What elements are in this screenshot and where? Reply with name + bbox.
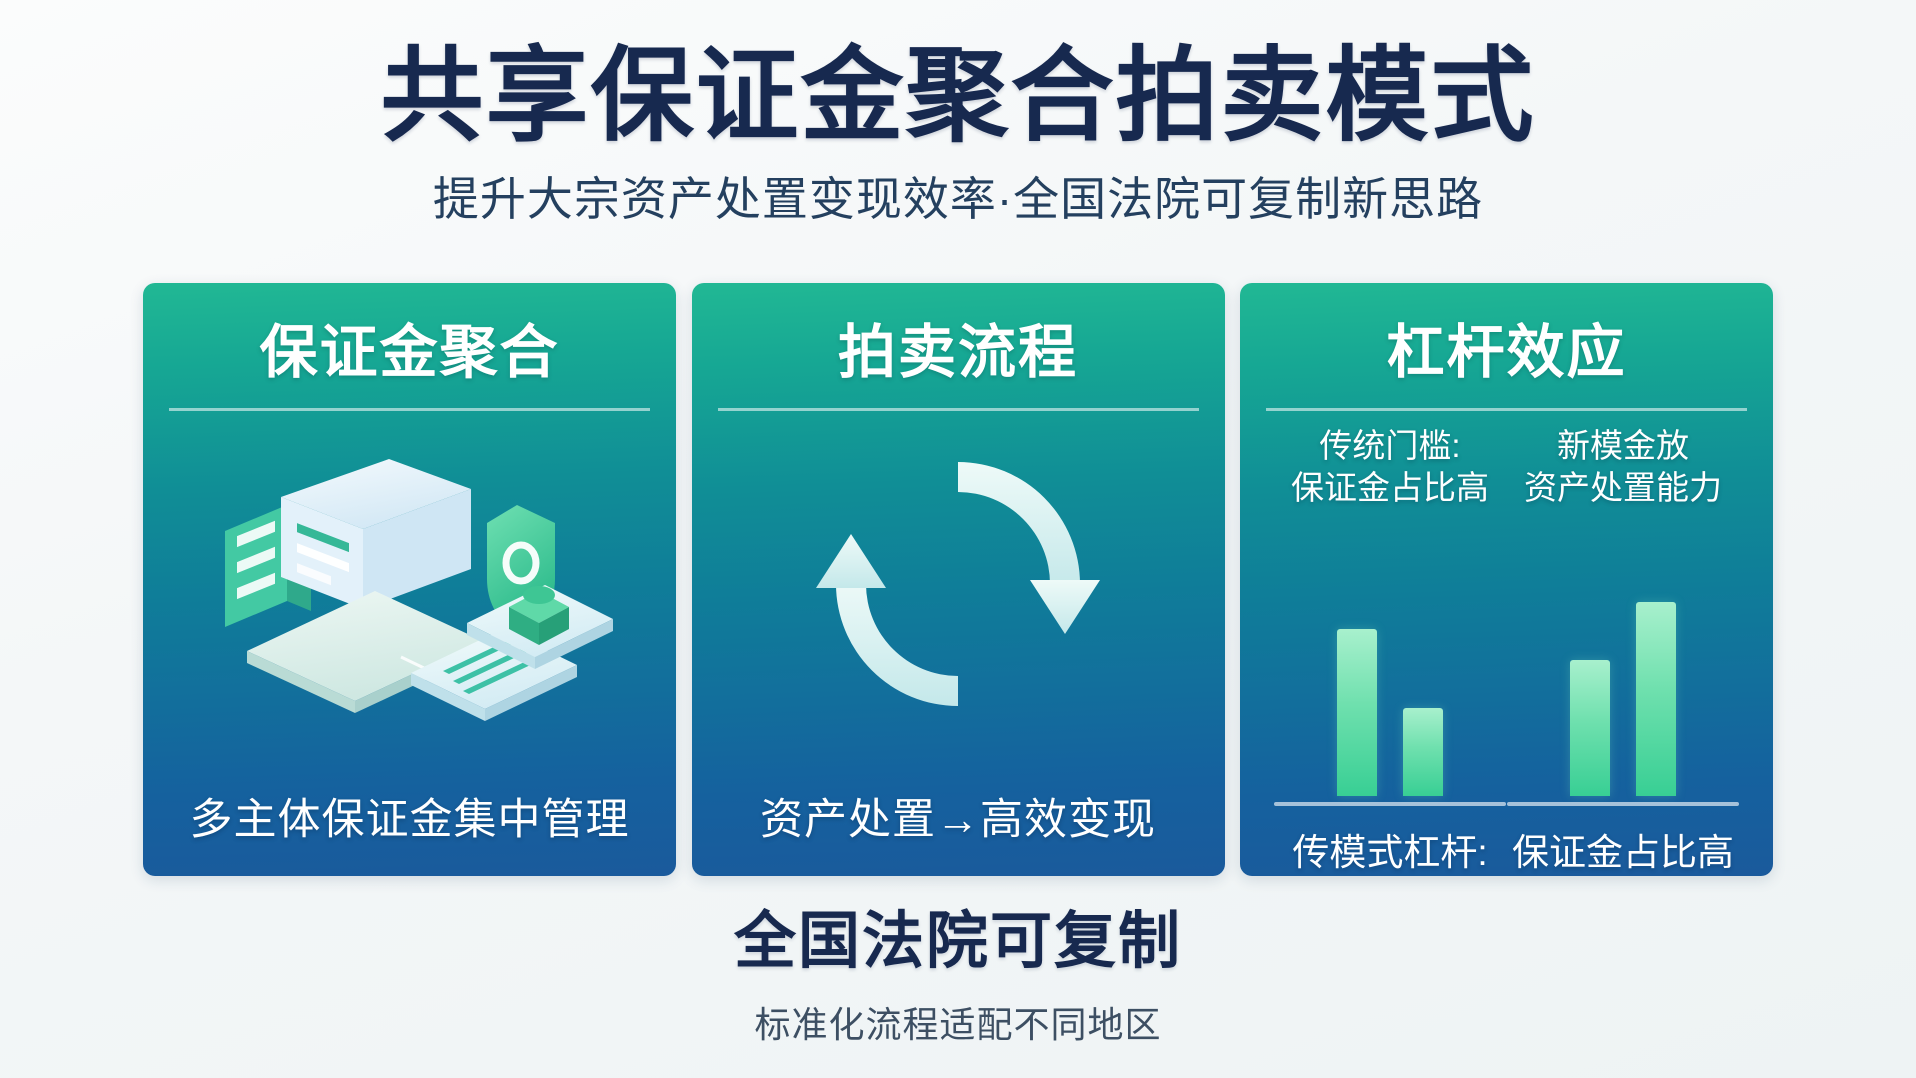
leverage-bar-groups (1270, 509, 1743, 806)
card-3-header: 杠杆效应 (1240, 283, 1773, 411)
page-subtitle: 提升大宗资产处置变现效率·全国法院可复制新思路 (0, 163, 1916, 229)
card-deposit-aggregation[interactable]: 保证金聚合 (143, 283, 676, 876)
card-1-caption: 多主体保证金集中管理 (143, 756, 676, 876)
card-2-caption: 资产处置→高效变现 (692, 756, 1225, 876)
leverage-label-right-line1: 新模金放 (1507, 425, 1739, 467)
leverage-chart: 传统门槛: 保证金占比高 新模金放 资产处置能力 (1240, 411, 1773, 876)
footer-subtitle: 标准化流程适配不同地区 (0, 996, 1916, 1048)
card-1-caption-text: 多主体保证金集中管理 (190, 785, 630, 847)
recycle-arrows-icon (692, 411, 1225, 756)
bar-left-1 (1337, 629, 1377, 796)
leverage-label-right-line2: 资产处置能力 (1507, 467, 1739, 509)
leverage-bar-group-left (1274, 523, 1506, 806)
card-row: 保证金聚合 (143, 283, 1773, 876)
leverage-label-left-line1: 传统门槛: (1274, 425, 1506, 467)
page-header: 共享保证金聚合拍卖模式 提升大宗资产处置变现效率·全国法院可复制新思路 (0, 0, 1916, 229)
card-auction-process[interactable]: 拍卖流程 (692, 283, 1225, 876)
card-1-header: 保证金聚合 (143, 283, 676, 411)
bars-right (1507, 576, 1739, 796)
card-2-header: 拍卖流程 (692, 283, 1225, 411)
card-2-body (692, 411, 1225, 756)
bar-left-2 (1403, 708, 1443, 796)
leverage-bar-group-right (1507, 523, 1739, 806)
leverage-chart-labels: 传统门槛: 保证金占比高 新模金放 资产处置能力 (1270, 419, 1743, 509)
leverage-label-left-line2: 保证金占比高 (1274, 467, 1506, 509)
card-3-title: 杠杆效应 (1386, 305, 1626, 389)
card-1-title: 保证金聚合 (259, 305, 559, 389)
page-title: 共享保证金聚合拍卖模式 (0, 38, 1916, 153)
leverage-label-right: 新模金放 资产处置能力 (1507, 425, 1739, 509)
leverage-foot-right: 保证金占比高 (1507, 822, 1739, 876)
bar-right-1 (1570, 660, 1610, 796)
isometric-deposit-platform-icon (143, 411, 676, 756)
leverage-foot-labels: 传模式杠杆: 保证金占比高 (1270, 806, 1743, 876)
leverage-label-left: 传统门槛: 保证金占比高 (1274, 425, 1506, 509)
card-2-caption-text: 资产处置→高效变现 (760, 785, 1156, 847)
leverage-foot-left: 传模式杠杆: (1274, 822, 1506, 876)
bars-left (1274, 576, 1506, 796)
bar-right-2 (1636, 602, 1676, 796)
card-leverage-effect[interactable]: 杠杆效应 传统门槛: 保证金占比高 新模金放 资产处置能力 (1240, 283, 1773, 876)
footer-title: 全国法院可复制 (0, 890, 1916, 980)
page-footer: 全国法院可复制 标准化流程适配不同地区 (0, 890, 1916, 1048)
card-2-title: 拍卖流程 (838, 305, 1078, 389)
card-3-body: 传统门槛: 保证金占比高 新模金放 资产处置能力 (1240, 411, 1773, 876)
card-1-body (143, 411, 676, 756)
